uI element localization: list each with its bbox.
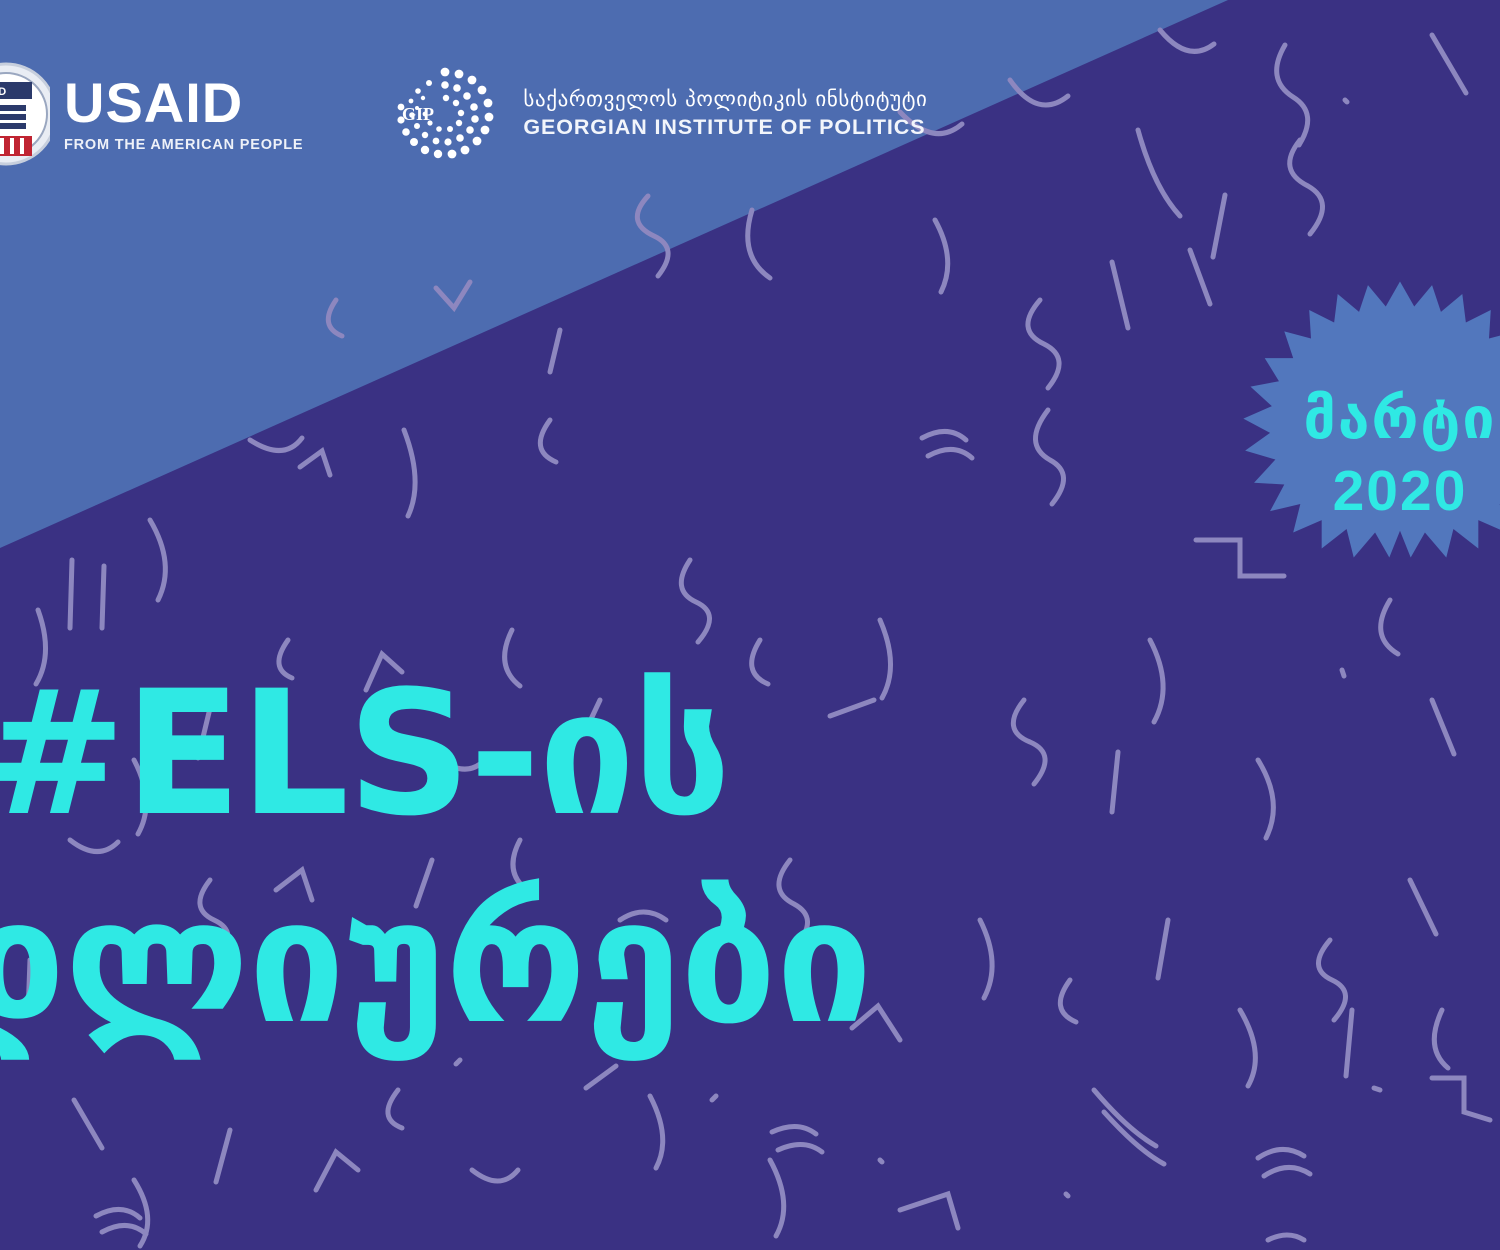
headline-line-2: დლიურები	[0, 876, 872, 1048]
usaid-seal-icon: USAID	[0, 60, 50, 168]
banner-canvas: მარტი 2020 USAID	[0, 0, 1500, 1250]
gip-name-ka: საქართველოს პოლიტიკის ინსტიტუტი	[523, 87, 927, 112]
headline: #ELS-ის დლიურები	[0, 668, 872, 1048]
gip-name-en: GEORGIAN INSTITUTE OF POLITICS	[523, 115, 927, 140]
logo-row: USAID USAID FROM	[0, 58, 928, 170]
gip-logo: GIP საქართველოს პოლიტიკის ინსტიტუტი GEOR…	[389, 58, 927, 170]
usaid-logo: USAID USAID FROM	[0, 60, 303, 168]
date-badge	[1222, 278, 1500, 634]
gip-globe-icon: GIP	[389, 58, 501, 170]
usaid-tagline: FROM THE AMERICAN PEOPLE	[64, 138, 303, 153]
gip-name-block: საქართველოს პოლიტიკის ინსტიტუტი GEORGIAN…	[523, 87, 927, 140]
headline-line-1: #ELS-ის	[0, 668, 872, 840]
svg-text:USAID: USAID	[0, 86, 6, 98]
usaid-wordmark: USAID	[64, 75, 303, 131]
usaid-wordmark-block: USAID FROM THE AMERICAN PEOPLE	[64, 75, 303, 153]
svg-text:GIP: GIP	[402, 104, 434, 124]
